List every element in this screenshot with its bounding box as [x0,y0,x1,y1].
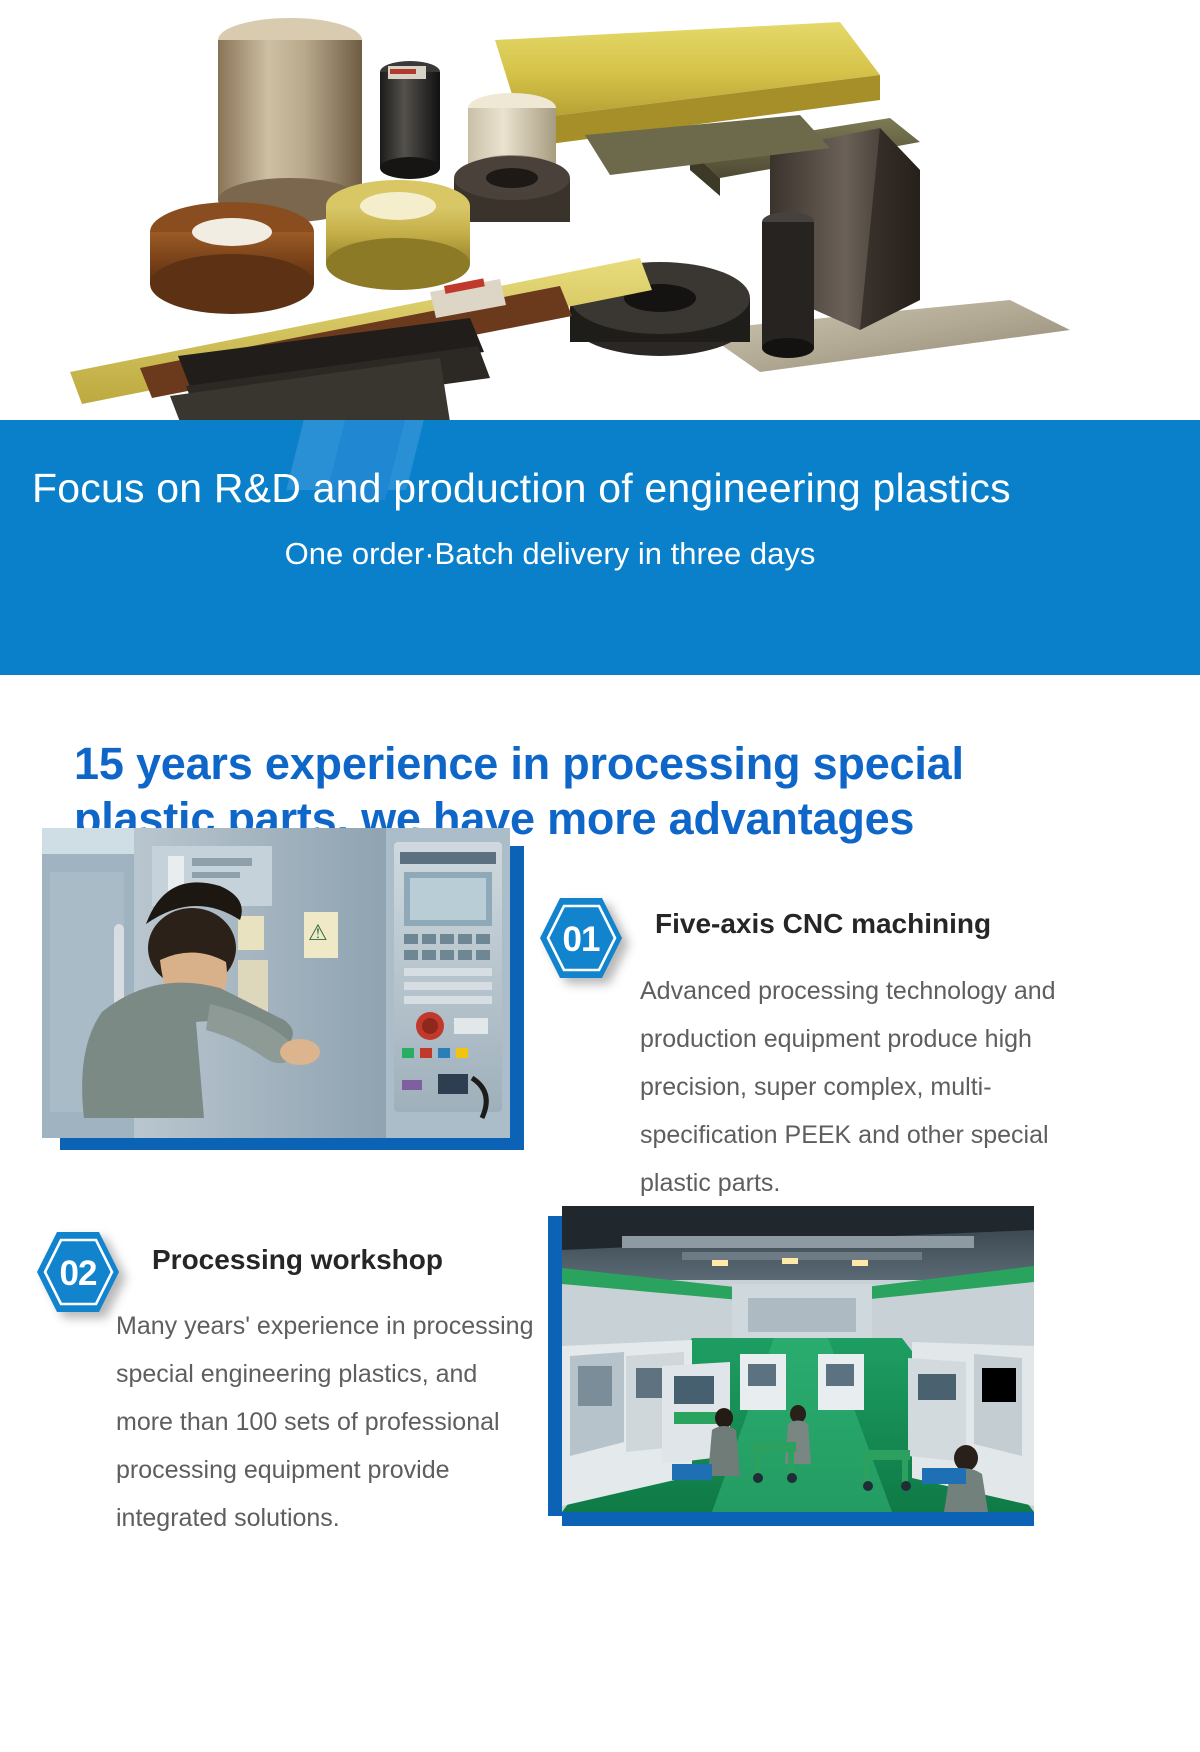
section-02-image-frame [548,1206,1034,1526]
section-02-number: 02 [36,1228,120,1316]
section-01-number: 01 [539,894,623,982]
cnc-operator-illustration: ⚠ [42,828,510,1138]
banner-headline: Focus on R&D and production of engineeri… [0,465,1200,512]
hero-product-image [0,0,1200,422]
section-01-body: Advanced processing technology and produ… [640,967,1070,1207]
cnc-operator-photo: ⚠ [42,828,510,1138]
frame-accent-right [510,846,524,1150]
frame-accent-bottom [562,1512,1034,1526]
frame-accent-bottom [60,1136,524,1150]
workshop-photo [562,1206,1034,1512]
section-02-number-badge: 02 [36,1228,120,1316]
frame-accent-left [548,1216,562,1516]
section-02-title: Processing workshop [152,1244,443,1276]
section-02-body: Many years' experience in processing spe… [116,1302,536,1542]
svg-text:⚠: ⚠ [308,920,328,945]
workshop-illustration [562,1206,1034,1512]
banner-subheadline: One order·Batch delivery in three days [0,536,1100,572]
promo-banner: Focus on R&D and production of engineeri… [0,420,1200,675]
section-01-title: Five-axis CNC machining [655,908,991,940]
hero-plastics-illustration [0,0,1200,422]
section-01-image-frame: ⚠ [42,828,524,1150]
section-01-number-badge: 01 [539,894,623,982]
